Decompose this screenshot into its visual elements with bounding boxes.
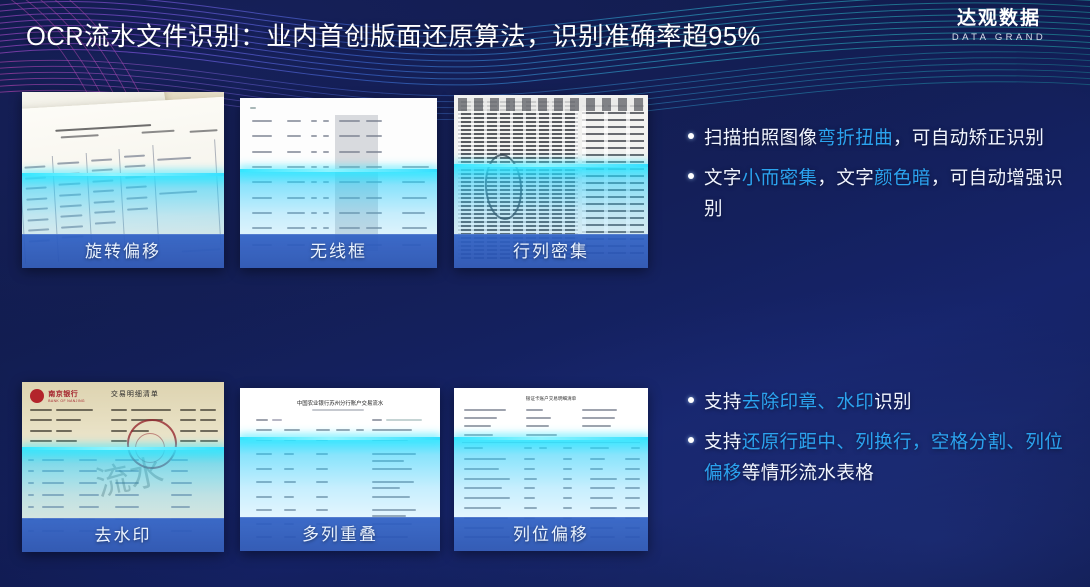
sample-card-borderless[interactable]: 无线框 (240, 98, 437, 268)
bullet-item: 扫描拍照图像弯折扭曲，可自动矫正识别 (686, 122, 1076, 153)
sample-card-grid: 旋转偏移 (0, 0, 680, 587)
bullet-dot-icon (688, 437, 694, 443)
page-title: OCR流水文件识别：业内首创版面还原算法，识别准确率超95% (26, 16, 761, 53)
bullet-plain: ，可自动矫正识别 (893, 127, 1044, 148)
feature-bullets-top: 扫描拍照图像弯折扭曲，可自动矫正识别文字小而密集，文字颜色暗，可自动增强识别 (686, 122, 1078, 233)
card-caption-rotation-offset: 旋转偏移 (22, 234, 224, 268)
bullet-highlight: 小而密集 (742, 167, 818, 188)
card-caption-dense-rows: 行列密集 (454, 234, 648, 268)
bullet-plain: 等情形流水表格 (742, 462, 874, 483)
bullet-text: 文字小而密集，文字颜色暗，可自动增强识别 (704, 162, 1076, 224)
card-caption-borderless: 无线框 (240, 234, 437, 268)
bullet-text: 扫描拍照图像弯折扭曲，可自动矫正识别 (704, 122, 1076, 153)
brand-logo-cn: 达观数据 (924, 8, 1074, 30)
brand-logo-en: DATA GRAND (924, 32, 1074, 43)
sample-card-multi-column-overlap[interactable]: 中国农业银行苏州分行账户交易流水 (240, 388, 440, 551)
bullet-group-top: 扫描拍照图像弯折扭曲，可自动矫正识别文字小而密集，文字颜色暗，可自动增强识别 (686, 122, 1076, 224)
sample-card-column-shift[interactable]: 银证卡账户交易明细清单 (454, 388, 648, 551)
card-caption-multi-column-overlap: 多列重叠 (240, 517, 440, 551)
bullet-item: 支持去除印章、水印识别 (686, 386, 1076, 417)
bullet-item: 支持还原行距中、列换行，空格分割、列位偏移等情形流水表格 (686, 426, 1076, 488)
bullet-plain: 支持 (704, 391, 742, 412)
bullet-highlight: 颜色暗 (874, 167, 931, 188)
col-shift-doc-title: 银证卡账户交易明细清单 (454, 396, 648, 402)
bullet-highlight: 去除印章、水印 (742, 391, 874, 412)
bank-name-en: BANK OF NANJING (48, 399, 85, 403)
card-caption-watermark-removal: 去水印 (22, 518, 224, 552)
multi-col-doc-title: 中国农业银行苏州分行账户交易流水 (240, 399, 440, 407)
bullet-group-bottom: 支持去除印章、水印识别支持还原行距中、列换行，空格分割、列位偏移等情形流水表格 (686, 386, 1076, 488)
sample-card-rotation-offset[interactable]: 旋转偏移 (22, 92, 224, 268)
card-caption-column-shift: 列位偏移 (454, 517, 648, 551)
brand-logo: 达观数据 DATA GRAND (924, 8, 1074, 43)
bullet-plain: 识别 (874, 391, 912, 412)
slide-root: OCR流水文件识别：业内首创版面还原算法，识别准确率超95% 达观数据 DATA… (0, 0, 1090, 587)
sample-card-watermark-removal[interactable]: 南京银行 BANK OF NANJING 交易明细清单 (22, 382, 224, 552)
handwriting-watermark: 流水 (90, 443, 167, 505)
bullet-plain: 扫描拍照图像 (704, 127, 817, 148)
bullet-highlight: 弯折扭曲 (817, 127, 893, 148)
bullet-plain: ，文字 (817, 167, 874, 188)
bank-name: 南京银行 (48, 389, 78, 399)
bullet-dot-icon (688, 173, 694, 179)
bullet-dot-icon (688, 397, 694, 403)
bullet-item: 文字小而密集，文字颜色暗，可自动增强识别 (686, 162, 1076, 224)
sample-card-dense-rows[interactable]: 行列密集 (454, 95, 648, 268)
bullet-plain: 文字 (704, 167, 742, 188)
statement-title: 交易明细清单 (111, 389, 159, 399)
bullet-text: 支持还原行距中、列换行，空格分割、列位偏移等情形流水表格 (704, 426, 1076, 488)
bullet-plain: 支持 (704, 431, 742, 452)
feature-bullets-bottom: 支持去除印章、水印识别支持还原行距中、列换行，空格分割、列位偏移等情形流水表格 (686, 386, 1078, 497)
slide-header: OCR流水文件识别：业内首创版面还原算法，识别准确率超95% 达观数据 DATA… (0, 0, 1090, 66)
bullet-dot-icon (688, 133, 694, 139)
bullet-text: 支持去除印章、水印识别 (704, 386, 1076, 417)
